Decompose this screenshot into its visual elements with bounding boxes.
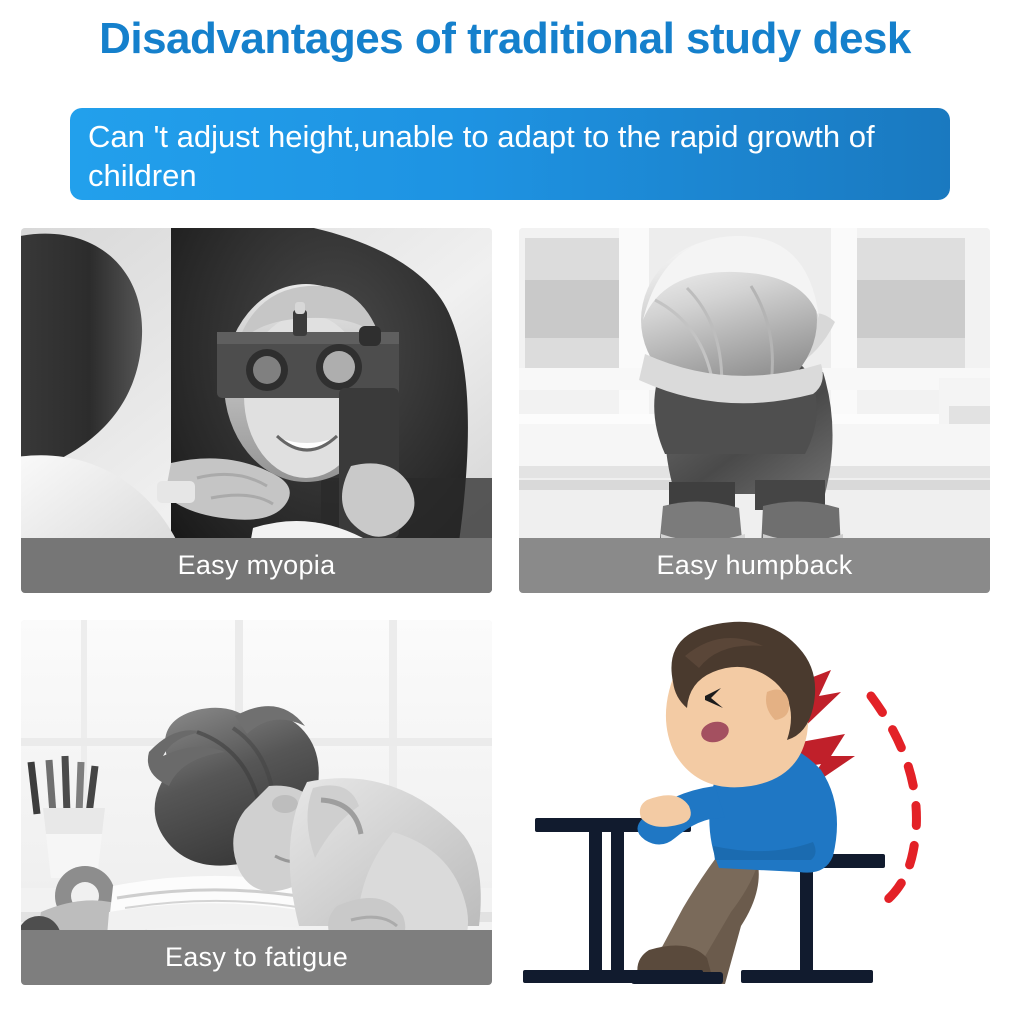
subtitle-banner-text: Can 't adjust height,unable to adapt to … — [88, 117, 932, 195]
panel-myopia: Easy myopia — [21, 228, 492, 593]
illustration-bad-posture — [519, 620, 990, 1010]
panel-caption: Easy humpback — [519, 538, 990, 593]
panel-caption: Easy myopia — [21, 538, 492, 593]
panel-fatigue: Easy to fatigue — [21, 620, 492, 985]
pain-arc — [871, 696, 916, 910]
panel-illustration-slouching-boy — [519, 620, 990, 1010]
panel-humpback: Easy humpback — [519, 228, 990, 593]
panel-caption: Easy to fatigue — [21, 930, 492, 985]
page-title: Disadvantages of traditional study desk — [0, 14, 1010, 63]
subtitle-banner: Can 't adjust height,unable to adapt to … — [70, 108, 950, 200]
